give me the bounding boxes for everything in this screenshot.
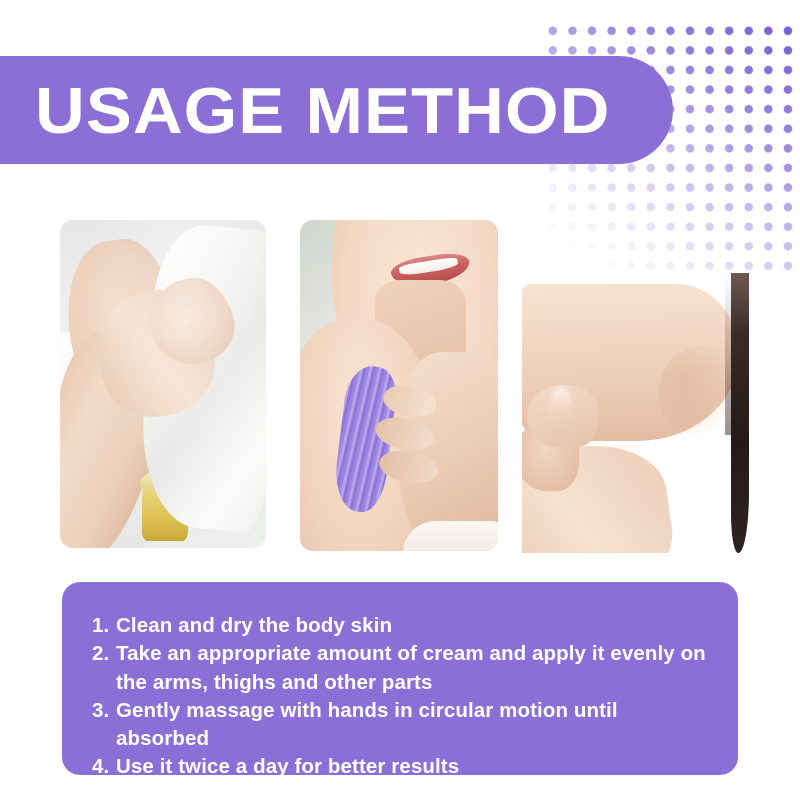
list-item: 3. Gently massage with hands in circular… — [92, 697, 712, 754]
list-item: 2. Take an appropriate amount of cream a… — [92, 640, 712, 697]
photo-2-towel — [403, 521, 498, 551]
instructions-panel: 1. Clean and dry the body skin 2. Take a… — [62, 582, 738, 775]
photo-3-dark-garment — [731, 273, 749, 553]
step-text: Use it twice a day for better results — [116, 753, 712, 781]
step-text: Clean and dry the body skin — [116, 612, 712, 640]
photo-3-thumbnail — [552, 389, 570, 411]
photo-1-highlight — [60, 220, 266, 548]
page-title: USAGE METHOD — [35, 78, 610, 143]
list-item: 4. Use it twice a day for better results — [92, 753, 712, 781]
photo-2-canvas — [300, 220, 498, 551]
photo-strip — [0, 218, 800, 553]
photo-pinching-upper-arm — [522, 273, 758, 553]
step-number: 3. — [92, 697, 116, 754]
list-item: 1. Clean and dry the body skin — [92, 612, 712, 640]
step-number: 2. — [92, 640, 116, 697]
photo-applying-purple-cream — [300, 220, 498, 551]
step-number: 1. — [92, 612, 116, 640]
photo-drying-arm-with-towel — [60, 220, 266, 548]
step-number: 4. — [92, 753, 116, 781]
step-text: Take an appropriate amount of cream and … — [116, 640, 712, 697]
photo-3-canvas — [522, 273, 758, 553]
header-banner: USAGE METHOD — [0, 56, 673, 164]
step-text: Gently massage with hands in circular mo… — [116, 697, 712, 754]
photo-1-canvas — [60, 220, 266, 548]
instructions-list: 1. Clean and dry the body skin 2. Take a… — [92, 612, 712, 782]
